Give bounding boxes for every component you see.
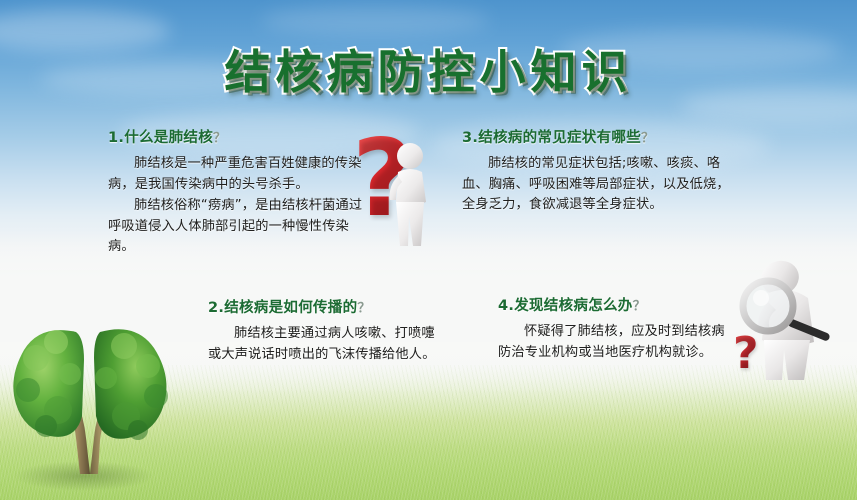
section-4-heading-text: 发现结核病怎么办: [514, 298, 632, 314]
section-4-question-mark: ？: [633, 299, 646, 314]
section-1-paragraph-1: 肺结核是一种严重危害百姓健康的传染病，是我国传染病中的头号杀手。: [108, 154, 368, 195]
section-1-number: 1.: [108, 130, 124, 146]
section-1-question-mark: ？: [213, 131, 226, 146]
section-1-paragraph-2: 肺结核俗称“痨病”，是由结核杆菌通过呼吸道侵入人体肺部引起的一种慢性传染病。: [108, 196, 368, 258]
section-1: 1.什么是肺结核？ 肺结核是一种严重危害百姓健康的传染病，是我国传染病中的头号杀…: [108, 126, 368, 258]
section-2: 2.结核病是如何传播的？ 肺结核主要通过病人咳嗽、打喷嚏或大声说话时喷出的飞沫传…: [208, 296, 440, 365]
section-2-number: 2.: [208, 300, 224, 316]
section-2-question-mark: ？: [357, 301, 370, 316]
poster-canvas: 结核病防控小知识: [0, 0, 857, 500]
section-3-heading-text: 结核病的常见症状有哪些: [478, 130, 641, 146]
section-3-paragraph-1: 肺结核的常见症状包括;咳嗽、咳痰、咯血、胸痛、呼吸困难等局部症状，以及低烧，全身…: [462, 154, 734, 216]
section-1-heading-text: 什么是肺结核: [124, 130, 213, 146]
section-3-question-mark: ？: [641, 131, 654, 146]
section-4-number: 4.: [498, 298, 514, 314]
section-4: 4.发现结核病怎么办？ 怀疑得了肺结核，应及时到结核病防治专业机构或当地医疗机构…: [498, 294, 732, 363]
section-4-paragraph-1: 怀疑得了肺结核，应及时到结核病防治专业机构或当地医疗机构就诊。: [498, 322, 732, 363]
section-3-number: 3.: [462, 130, 478, 146]
poster-title: 结核病防控小知识: [225, 36, 633, 102]
section-2-paragraph-1: 肺结核主要通过病人咳嗽、打喷嚏或大声说话时喷出的飞沫传播给他人。: [208, 324, 440, 365]
section-3-heading: 3.结核病的常见症状有哪些？: [462, 126, 734, 147]
section-1-heading: 1.什么是肺结核？: [108, 126, 368, 147]
poster-title-container: 结核病防控小知识: [0, 36, 857, 102]
section-2-heading: 2.结核病是如何传播的？: [208, 296, 440, 317]
section-4-heading: 4.发现结核病怎么办？: [498, 294, 732, 315]
section-2-heading-text: 结核病是如何传播的: [224, 300, 357, 316]
section-3: 3.结核病的常见症状有哪些？ 肺结核的常见症状包括;咳嗽、咳痰、咯血、胸痛、呼吸…: [462, 126, 734, 216]
